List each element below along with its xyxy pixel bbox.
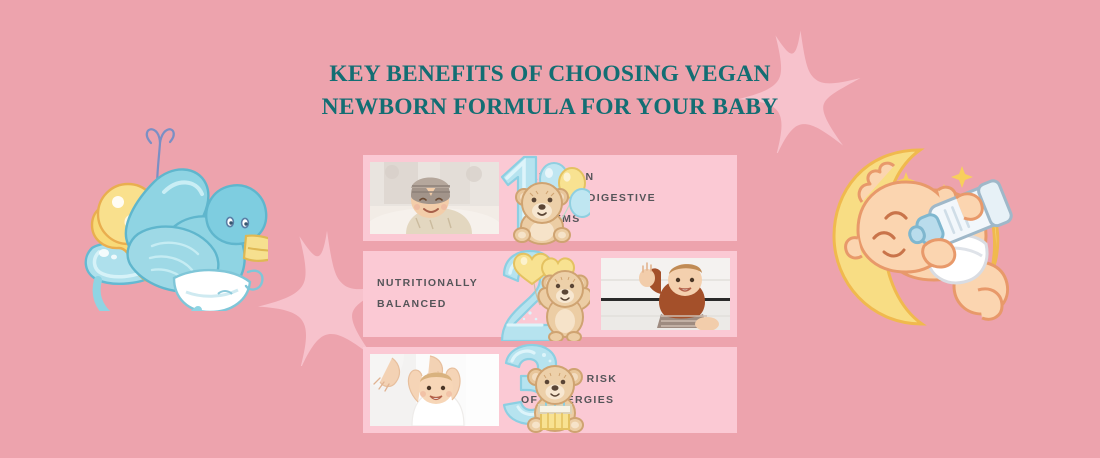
benefit-row-1: GENTLE ON DELICATE DIGESTIVE SYSTEMS bbox=[363, 155, 737, 241]
infographic-canvas: KEY BENEFITS OF CHOOSING VEGAN NEWBORN F… bbox=[0, 0, 1100, 458]
benefit-row-2: NUTRITIONALLY BALANCED bbox=[363, 251, 737, 337]
benefit-2-line-1: NUTRITIONALLY bbox=[377, 273, 594, 294]
benefit-1-line-2: DELICATE DIGESTIVE bbox=[521, 188, 737, 209]
benefit-photo-3 bbox=[370, 354, 499, 426]
benefit-1-line-3: SYSTEMS bbox=[521, 209, 737, 230]
benefit-photo-1 bbox=[370, 162, 499, 234]
benefit-row-3: REDUCED RISK OF ALLERGIES bbox=[363, 347, 737, 433]
benefit-text-2: NUTRITIONALLY BALANCED bbox=[363, 251, 594, 337]
benefit-3-line-2: OF ALLERGIES bbox=[521, 390, 737, 411]
benefit-2-line-2: BALANCED bbox=[377, 294, 594, 315]
page-title: KEY BENEFITS OF CHOOSING VEGAN NEWBORN F… bbox=[0, 58, 1100, 124]
benefit-photo-2 bbox=[601, 258, 730, 330]
page-title-line-1: KEY BENEFITS OF CHOOSING VEGAN bbox=[0, 58, 1100, 91]
benefits-list: GENTLE ON DELICATE DIGESTIVE SYSTEMS bbox=[0, 155, 1100, 433]
benefit-3-line-1: REDUCED RISK bbox=[521, 369, 737, 390]
benefit-1-line-1: GENTLE ON bbox=[521, 167, 737, 188]
benefit-text-1: GENTLE ON DELICATE DIGESTIVE SYSTEMS bbox=[506, 155, 737, 241]
benefit-text-3: REDUCED RISK OF ALLERGIES bbox=[506, 347, 737, 433]
page-title-line-2: NEWBORN FORMULA FOR YOUR BABY bbox=[0, 91, 1100, 124]
